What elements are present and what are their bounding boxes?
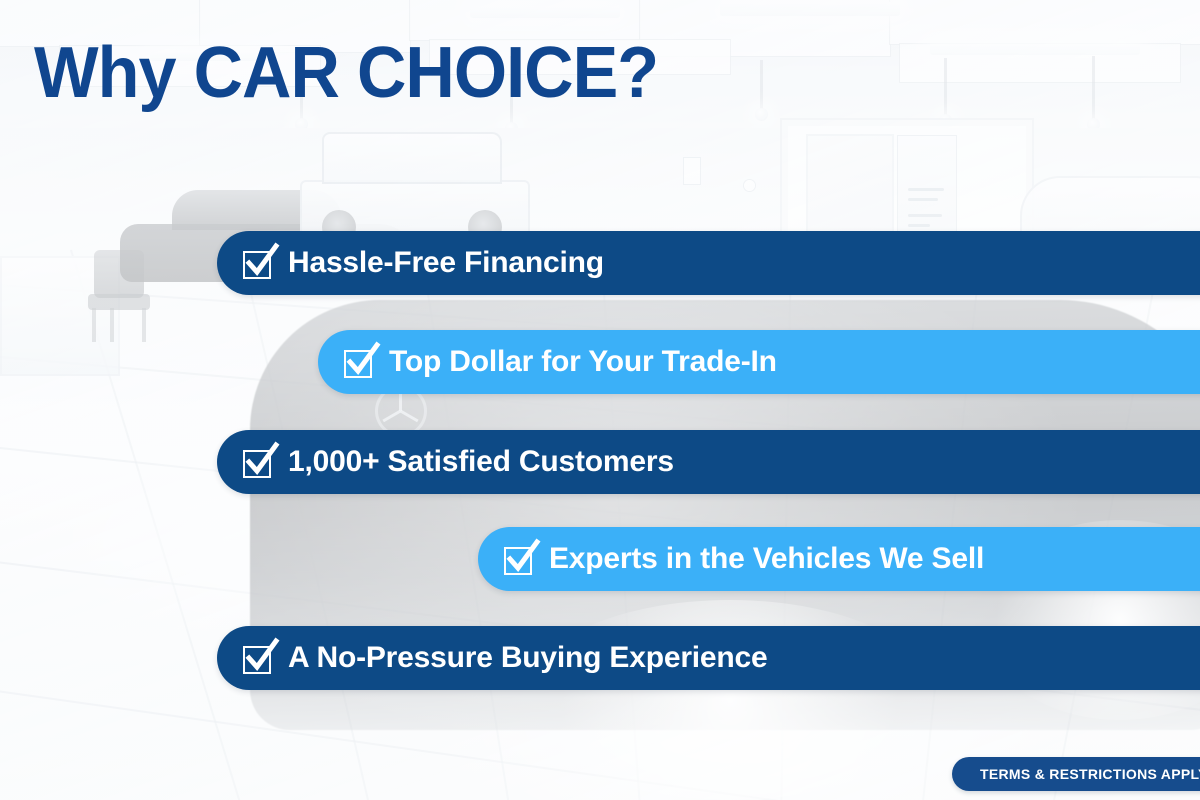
- benefit-bar-4[interactable]: Experts in the Vehicles We Sell: [478, 527, 1200, 591]
- promo-graphic: Why CAR CHOICE? Hassle-Free Financing To…: [0, 0, 1200, 800]
- checkbox-checked-icon: [243, 447, 274, 478]
- benefit-bar-2[interactable]: Top Dollar for Your Trade-In: [318, 330, 1200, 394]
- checkbox-checked-icon: [243, 248, 274, 279]
- benefit-label: Experts in the Vehicles We Sell: [549, 544, 984, 574]
- benefit-label: A No-Pressure Buying Experience: [288, 643, 768, 673]
- page-title: Why CAR CHOICE?: [34, 36, 658, 110]
- benefit-label: Top Dollar for Your Trade-In: [389, 347, 777, 377]
- benefit-bar-1[interactable]: Hassle-Free Financing: [217, 231, 1200, 295]
- terms-label: TERMS & RESTRICTIONS APPLY: [980, 766, 1200, 782]
- benefit-label: Hassle-Free Financing: [288, 248, 604, 278]
- terms-badge[interactable]: TERMS & RESTRICTIONS APPLY: [952, 757, 1200, 791]
- checkbox-checked-icon: [243, 643, 274, 674]
- benefit-label: 1,000+ Satisfied Customers: [288, 447, 674, 477]
- checkbox-checked-icon: [504, 544, 535, 575]
- checkbox-checked-icon: [344, 347, 375, 378]
- benefit-bar-5[interactable]: A No-Pressure Buying Experience: [217, 626, 1200, 690]
- benefit-bar-3[interactable]: 1,000+ Satisfied Customers: [217, 430, 1200, 494]
